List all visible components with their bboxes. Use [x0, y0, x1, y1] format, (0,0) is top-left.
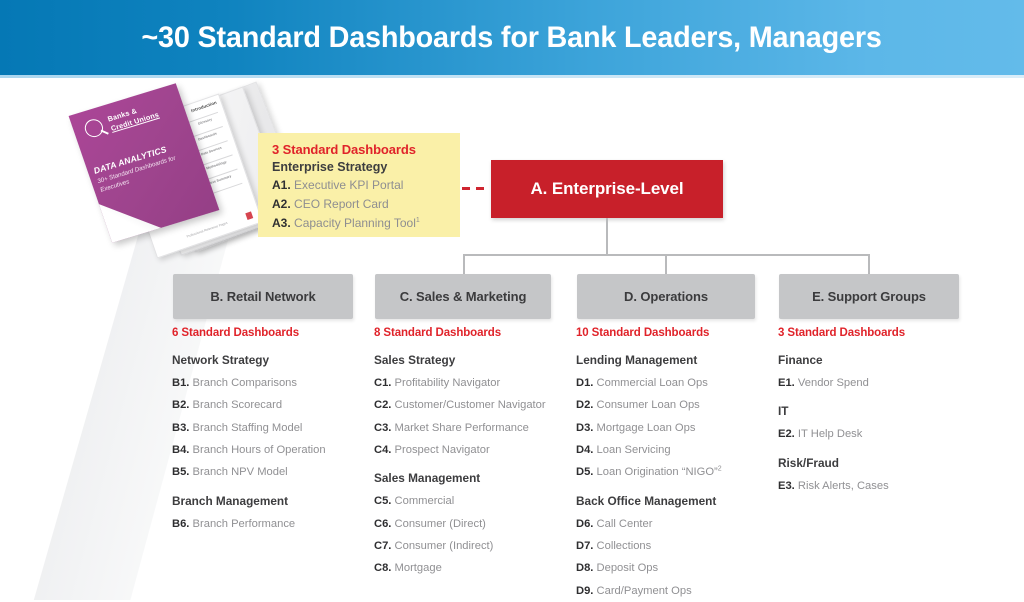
connector-vertical-c [463, 254, 465, 275]
dashboard-item-label: Branch Performance [189, 518, 295, 530]
dashboard-item: C2. Customer/Customer Navigator [374, 398, 574, 412]
dashboard-item: D3. Mortgage Loan Ops [576, 421, 776, 435]
dashboard-item-code: C8. [374, 562, 391, 574]
dashboard-group: Lending ManagementD1. Commercial Loan Op… [576, 353, 776, 480]
column-dashboard-count: 6 Standard Dashboards [172, 327, 372, 339]
dashboard-item-label: Risk Alerts, Cases [795, 480, 889, 492]
dashboard-group-title: Sales Strategy [374, 353, 574, 367]
dashboard-item: C3. Market Share Performance [374, 421, 574, 435]
dashboard-item-code: D7. [576, 540, 593, 552]
dashboard-item: D9. Card/Payment Ops [576, 584, 776, 598]
dashboard-item-code: B2. [172, 399, 189, 411]
dashboard-item-code: C7. [374, 540, 391, 552]
dashboard-group: Sales StrategyC1. Profitability Navigato… [374, 353, 574, 457]
dashboard-item-code: D1. [576, 377, 593, 389]
dashboard-item: B6. Branch Performance [172, 517, 372, 531]
dashboard-item: C8. Mortgage [374, 561, 574, 575]
magnifier-icon [82, 117, 105, 139]
document-logo-mark [245, 211, 253, 220]
dashboard-item-label: Capacity Planning Tool [291, 216, 416, 230]
dashboard-item: B1. Branch Comparisons [172, 376, 372, 390]
connector-vertical-e [868, 254, 870, 275]
dashboard-item-code: D9. [576, 585, 593, 597]
dashboard-item-label: Mortgage Loan Ops [593, 422, 695, 434]
dashboard-group-title: Network Strategy [172, 353, 372, 367]
category-box-retail-network[interactable]: B. Retail Network [173, 274, 353, 319]
document-inner-footer: Professional Reference Pages [186, 221, 228, 239]
dashboard-item-label: Loan Servicing [593, 444, 670, 456]
dashboard-item-label: Deposit Ops [593, 562, 658, 574]
dashboard-item-code: C1. [374, 377, 391, 389]
dashboard-item-code: E1. [778, 377, 795, 389]
dashboard-item-label: Profitability Navigator [391, 377, 500, 389]
dashboard-item: B2. Branch Scorecard [172, 398, 372, 412]
dashboard-group-title: Sales Management [374, 471, 574, 485]
dashboard-item-code: E3. [778, 480, 795, 492]
dashboard-item-code: D4. [576, 444, 593, 456]
dashboard-group: Network StrategyB1. Branch ComparisonsB2… [172, 353, 372, 480]
dashboard-item: A3. Capacity Planning Tool1 [272, 216, 448, 231]
page-title: ~30 Standard Dashboards for Bank Leaders… [142, 23, 882, 53]
dashboard-item-label: Consumer Loan Ops [593, 399, 699, 411]
diagram-canvas: ~30 Standard Dashboards for Bank Leaders… [0, 0, 1024, 602]
dashboard-group-title: Lending Management [576, 353, 776, 367]
dashboard-item: C1. Profitability Navigator [374, 376, 574, 390]
column-dashboard-count: 10 Standard Dashboards [576, 327, 776, 339]
category-box-operations[interactable]: D. Operations [577, 274, 755, 319]
dashboard-group-title: IT [778, 404, 978, 418]
dashboard-item: C6. Consumer (Direct) [374, 517, 574, 531]
dashboard-item-code: D5. [576, 466, 593, 478]
dashboard-item: A1. Executive KPI Portal [272, 178, 448, 193]
dashboard-item: E2. IT Help Desk [778, 427, 978, 441]
dashboard-item-code: A2. [272, 197, 291, 211]
dashboard-item: D8. Deposit Ops [576, 561, 776, 575]
enterprise-level-box[interactable]: A. Enterprise-Level [491, 160, 723, 218]
dashboard-item: C7. Consumer (Indirect) [374, 539, 574, 553]
dashboard-item-code: E2. [778, 428, 795, 440]
dashboard-group: ITE2. IT Help Desk [778, 404, 978, 441]
dashboard-item-label: Branch Hours of Operation [189, 444, 325, 456]
dashboard-item-label: Prospect Navigator [391, 444, 489, 456]
dashed-connector [462, 187, 488, 190]
dashboard-item: A2. CEO Report Card [272, 197, 448, 212]
category-label: E. Support Groups [812, 289, 926, 304]
connector-vertical-root [606, 218, 608, 255]
dashboard-item-label: Commercial [391, 495, 454, 507]
dashboard-item-label: Vendor Spend [795, 377, 869, 389]
dashboard-item-code: B4. [172, 444, 189, 456]
callout-group-title: Enterprise Strategy [272, 160, 448, 174]
dashboard-item: D7. Collections [576, 539, 776, 553]
dashboard-item-label: IT Help Desk [795, 428, 863, 440]
dashboard-item: D4. Loan Servicing [576, 443, 776, 457]
dashboard-item-label: Mortgage [391, 562, 441, 574]
category-box-sales-marketing[interactable]: C. Sales & Marketing [375, 274, 551, 319]
dashboard-group-title: Finance [778, 353, 978, 367]
dashboard-group: FinanceE1. Vendor Spend [778, 353, 978, 390]
dashboard-item-label: Card/Payment Ops [593, 585, 691, 597]
category-box-support-groups[interactable]: E. Support Groups [779, 274, 959, 319]
dashboard-group: Sales ManagementC5. CommercialC6. Consum… [374, 471, 574, 575]
dashboard-item: D6. Call Center [576, 517, 776, 531]
dashboard-item-label: Loan Origination “NIGO” [593, 466, 717, 478]
dashboard-item-label: Call Center [593, 518, 652, 530]
dashboard-item-code: B3. [172, 422, 189, 434]
column-operations: 10 Standard DashboardsLending Management… [576, 327, 776, 602]
dashboard-item-code: A1. [272, 178, 291, 192]
dashboard-group: Risk/FraudE3. Risk Alerts, Cases [778, 456, 978, 493]
dashboard-item-label: Branch Scorecard [189, 399, 282, 411]
dashboard-group: Branch ManagementB6. Branch Performance [172, 494, 372, 531]
dashboard-item-label: Branch NPV Model [189, 466, 287, 478]
dashboard-item-label: Collections [593, 540, 651, 552]
dashboard-group-title: Back Office Management [576, 494, 776, 508]
column-dashboard-count: 3 Standard Dashboards [778, 327, 978, 339]
dashboard-item-code: D6. [576, 518, 593, 530]
dashboard-item-label: Commercial Loan Ops [593, 377, 707, 389]
dashboard-item: B5. Branch NPV Model [172, 465, 372, 479]
dashboard-item: B3. Branch Staffing Model [172, 421, 372, 435]
dashboard-item: D5. Loan Origination “NIGO”2 [576, 465, 776, 479]
dashboard-item-code: B1. [172, 377, 189, 389]
dashboard-item-code: D2. [576, 399, 593, 411]
dashboard-item-label: Branch Staffing Model [189, 422, 302, 434]
page-header: ~30 Standard Dashboards for Bank Leaders… [0, 0, 1024, 75]
column-sales-marketing: 8 Standard DashboardsSales StrategyC1. P… [374, 327, 574, 576]
dashboard-item: E3. Risk Alerts, Cases [778, 479, 978, 493]
column-support-groups: 3 Standard DashboardsFinanceE1. Vendor S… [778, 327, 978, 493]
category-label: C. Sales & Marketing [400, 289, 527, 304]
dashboard-item-code: C5. [374, 495, 391, 507]
dashboard-item-code: C6. [374, 518, 391, 530]
document-inner-header: Introduction [190, 100, 217, 113]
dashboard-item-label: Customer/Customer Navigator [391, 399, 545, 411]
enterprise-level-label: A. Enterprise-Level [530, 179, 683, 199]
column-dashboard-count: 8 Standard Dashboards [374, 327, 574, 339]
connector-vertical-d [665, 254, 667, 275]
dashboard-item: D1. Commercial Loan Ops [576, 376, 776, 390]
dashboard-item-label: CEO Report Card [291, 197, 389, 211]
footnote-marker: 2 [718, 466, 722, 473]
dashboard-item: D2. Consumer Loan Ops [576, 398, 776, 412]
dashboard-item-code: C4. [374, 444, 391, 456]
footnote-marker: 1 [416, 217, 420, 224]
dashboard-item-label: Branch Comparisons [189, 377, 297, 389]
dashboard-item-code: C3. [374, 422, 391, 434]
dashboard-item-code: D3. [576, 422, 593, 434]
dashboard-item: C4. Prospect Navigator [374, 443, 574, 457]
dashboard-group-title: Branch Management [172, 494, 372, 508]
cover-brand: Banks & Credit Unions [106, 100, 160, 133]
dashboard-item-code: C2. [374, 399, 391, 411]
dashboard-item: C5. Commercial [374, 494, 574, 508]
callout-dashboard-count: 3 Standard Dashboards [272, 142, 448, 157]
dashboard-item-label: Market Share Performance [391, 422, 528, 434]
dashboard-item-code: B6. [172, 518, 189, 530]
category-label: B. Retail Network [210, 289, 315, 304]
dashboard-group: Back Office ManagementD6. Call CenterD7.… [576, 494, 776, 602]
dashboard-item-label: Consumer (Indirect) [391, 540, 493, 552]
dashboard-item-code: A3. [272, 216, 291, 230]
dashboard-item: B4. Branch Hours of Operation [172, 443, 372, 457]
dashboard-item-label: Executive KPI Portal [291, 178, 404, 192]
dashboard-item-code: B5. [172, 466, 189, 478]
column-retail-network: 6 Standard DashboardsNetwork StrategyB1.… [172, 327, 372, 531]
dashboard-item-code: D8. [576, 562, 593, 574]
callout-item-list: A1. Executive KPI PortalA2. CEO Report C… [272, 178, 448, 231]
dashboard-group-title: Risk/Fraud [778, 456, 978, 470]
header-underline [0, 75, 1024, 78]
enterprise-strategy-callout: 3 Standard Dashboards Enterprise Strateg… [258, 133, 460, 237]
category-label: D. Operations [624, 289, 708, 304]
dashboard-item-label: Consumer (Direct) [391, 518, 486, 530]
dashboard-item: E1. Vendor Spend [778, 376, 978, 390]
